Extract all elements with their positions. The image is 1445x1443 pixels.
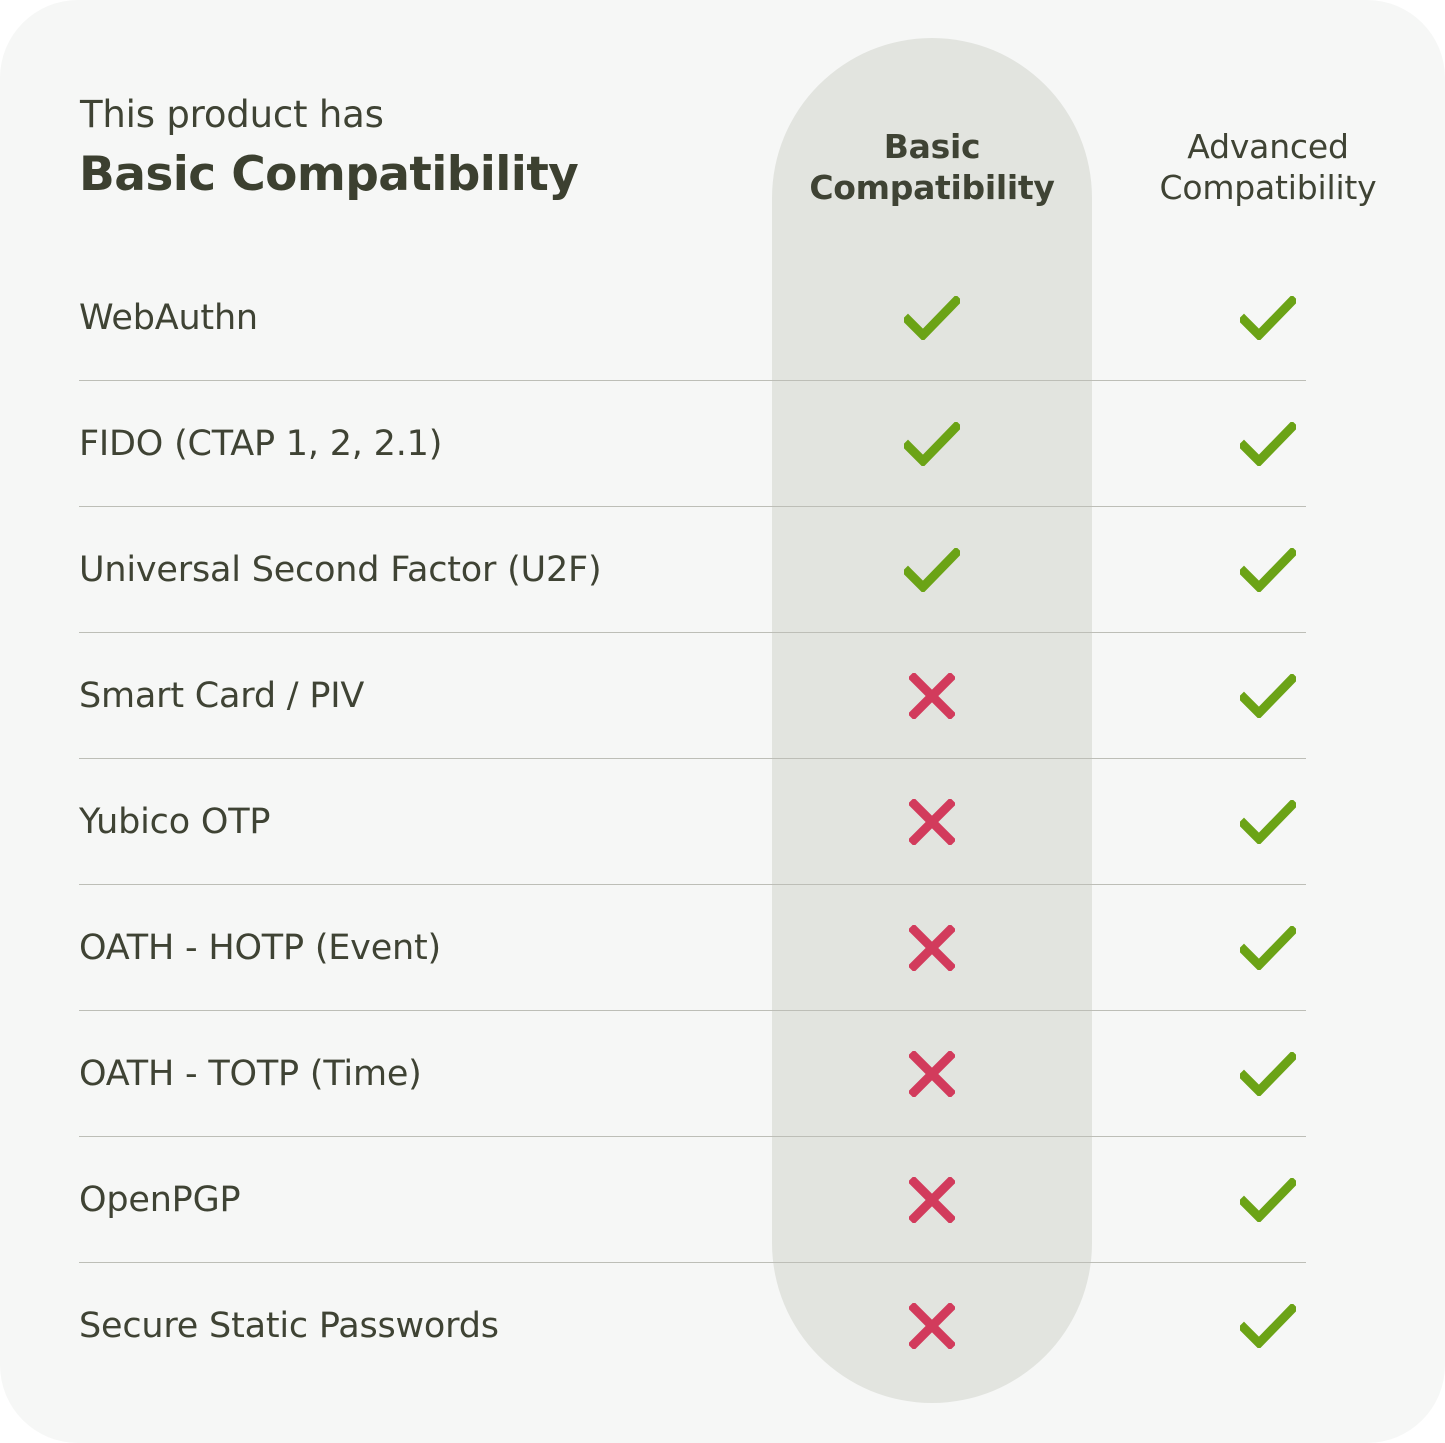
cross-icon <box>909 1177 955 1223</box>
cross-icon <box>909 925 955 971</box>
table-row: OATH - HOTP (Event) <box>0 885 1445 1011</box>
table-row: Yubico OTP <box>0 759 1445 885</box>
cell-advanced <box>1108 1137 1428 1263</box>
cross-icon <box>909 1303 955 1349</box>
cell-advanced <box>1108 255 1428 381</box>
feature-label: WebAuthn <box>79 255 258 381</box>
cell-basic <box>772 633 1092 759</box>
feature-label: Smart Card / PIV <box>79 633 364 759</box>
check-icon <box>904 422 960 466</box>
feature-label: Yubico OTP <box>79 759 270 885</box>
cell-advanced <box>1108 381 1428 507</box>
feature-rows: WebAuthnFIDO (CTAP 1, 2, 2.1)Universal S… <box>0 0 1445 1443</box>
feature-label: OpenPGP <box>79 1137 240 1263</box>
table-row: Smart Card / PIV <box>0 633 1445 759</box>
feature-label: OATH - TOTP (Time) <box>79 1011 422 1137</box>
check-icon <box>1240 548 1296 592</box>
check-icon <box>1240 422 1296 466</box>
feature-label: Universal Second Factor (U2F) <box>79 507 601 633</box>
cell-basic <box>772 885 1092 1011</box>
check-icon <box>1240 926 1296 970</box>
feature-label: Secure Static Passwords <box>79 1263 499 1389</box>
check-icon <box>1240 1178 1296 1222</box>
cell-advanced <box>1108 1263 1428 1389</box>
check-icon <box>1240 800 1296 844</box>
cell-advanced <box>1108 885 1428 1011</box>
cell-basic <box>772 381 1092 507</box>
check-icon <box>1240 1304 1296 1348</box>
cell-basic <box>772 1137 1092 1263</box>
check-icon <box>1240 296 1296 340</box>
table-row: WebAuthn <box>0 255 1445 381</box>
feature-label: FIDO (CTAP 1, 2, 2.1) <box>79 381 442 507</box>
check-icon <box>904 296 960 340</box>
cross-icon <box>909 1051 955 1097</box>
table-row: OATH - TOTP (Time) <box>0 1011 1445 1137</box>
check-icon <box>1240 674 1296 718</box>
table-row: Secure Static Passwords <box>0 1263 1445 1389</box>
table-row: OpenPGP <box>0 1137 1445 1263</box>
check-icon <box>1240 1052 1296 1096</box>
cell-advanced <box>1108 633 1428 759</box>
cell-advanced <box>1108 507 1428 633</box>
cross-icon <box>909 799 955 845</box>
compatibility-card: This product has Basic Compatibility Bas… <box>0 0 1445 1443</box>
cell-advanced <box>1108 759 1428 885</box>
cell-basic <box>772 1263 1092 1389</box>
feature-label: OATH - HOTP (Event) <box>79 885 441 1011</box>
cell-basic <box>772 255 1092 381</box>
table-row: Universal Second Factor (U2F) <box>0 507 1445 633</box>
table-row: FIDO (CTAP 1, 2, 2.1) <box>0 381 1445 507</box>
cell-basic <box>772 1011 1092 1137</box>
check-icon <box>904 548 960 592</box>
cell-advanced <box>1108 1011 1428 1137</box>
cross-icon <box>909 673 955 719</box>
cell-basic <box>772 759 1092 885</box>
cell-basic <box>772 507 1092 633</box>
